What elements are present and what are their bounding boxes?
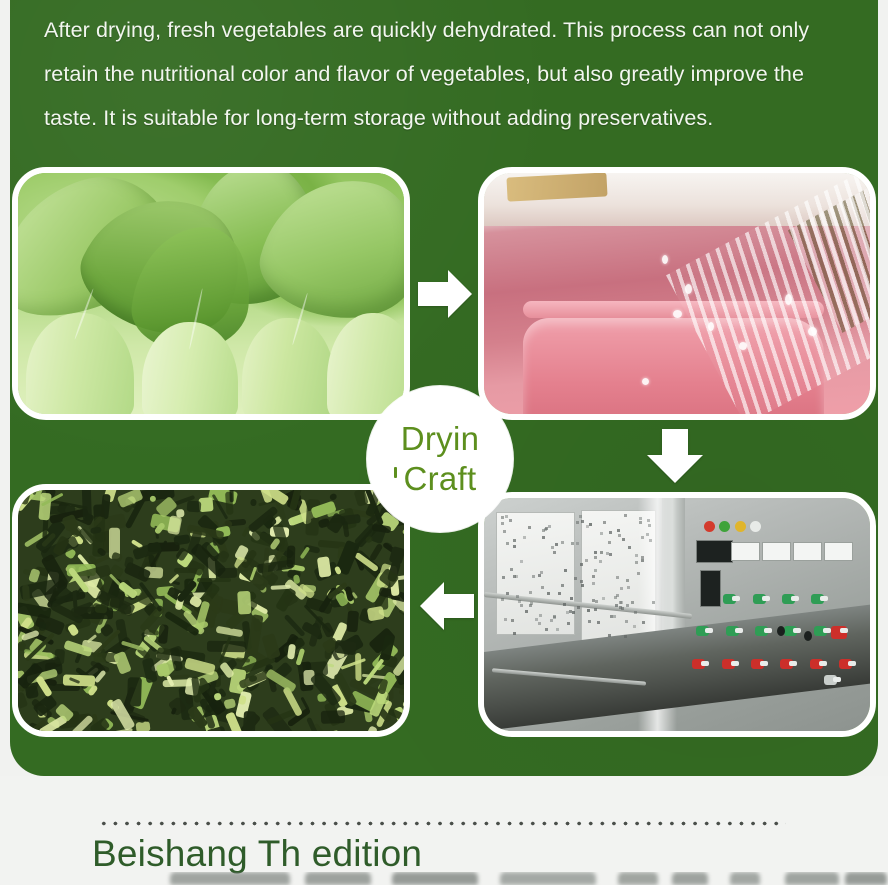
preview-blob (845, 872, 887, 885)
control-knob-green (726, 626, 739, 636)
vegetable-flake (158, 624, 168, 644)
chart-tick (641, 536, 644, 539)
chart-tick (595, 600, 598, 603)
chart-tick (515, 575, 518, 578)
control-knob-red (839, 659, 852, 669)
control-knob-red (751, 659, 764, 669)
vegetable-flake (365, 726, 378, 737)
indicator-lamp-red (704, 521, 715, 532)
chart-tick (592, 582, 595, 585)
control-knob-grey (824, 675, 837, 685)
vegetable-flake (251, 498, 257, 506)
chart-tick (538, 622, 541, 625)
chart-tick (571, 542, 574, 545)
preview-blob (305, 872, 371, 885)
vegetable-flake (403, 550, 410, 559)
chart-tick (635, 561, 638, 564)
drying-craft-badge: Dryin Craft (367, 386, 513, 532)
badge-line-2: Craft (403, 460, 476, 497)
control-knob-red (810, 659, 823, 669)
photo-drying-machine (478, 492, 876, 737)
chart-tick (600, 551, 603, 554)
chart-tick (580, 563, 583, 566)
chart-tick (608, 634, 611, 637)
chart-tick (600, 532, 603, 535)
chart-tick (621, 607, 624, 610)
chart-tick (633, 625, 636, 628)
chart-tick (574, 577, 577, 580)
chart-tick (603, 521, 606, 524)
chart-tick (620, 601, 623, 604)
arrow-down-icon (641, 425, 709, 487)
chart-tick (622, 538, 625, 541)
vegetable-flake (316, 557, 331, 579)
vegetable-flake (408, 576, 410, 605)
chart-tick (592, 575, 595, 578)
chart-tick (540, 571, 543, 574)
chart-tick (576, 542, 579, 545)
vegetable-flake (327, 730, 338, 736)
chart-tick (594, 556, 597, 559)
washing-image (484, 173, 870, 414)
chart-tick (501, 598, 504, 601)
brand-title: Beishang Th edition (92, 832, 422, 876)
chart-tick (511, 619, 514, 622)
chart-tick (639, 517, 642, 520)
chart-tick (506, 592, 509, 595)
vegetable-flake (197, 578, 232, 582)
badge-line-1: Dryin (401, 419, 480, 459)
badge-line-2-wrap: Craft (403, 459, 476, 499)
control-knob-green (782, 594, 795, 604)
chart-tick (548, 525, 551, 528)
chart-tick (642, 621, 645, 624)
chart-tick (513, 539, 516, 542)
vegetable-flake (173, 534, 190, 545)
chart-tick (529, 591, 532, 594)
chart-tick (513, 545, 516, 548)
vegetable-flake (246, 614, 263, 655)
preview-blob (170, 872, 290, 885)
chart-tick (541, 586, 544, 589)
vegetable-flake (335, 640, 357, 655)
chart-tick (587, 609, 590, 612)
preview-blob (618, 872, 658, 885)
chart-tick (555, 543, 558, 546)
chart-tick (585, 559, 588, 562)
chart-tick (637, 572, 640, 575)
chart-tick (617, 529, 620, 532)
fresh-vegetable-image (18, 173, 404, 414)
control-knob-green (814, 626, 827, 636)
control-knob-red (692, 659, 705, 669)
vegetable-flake (242, 711, 256, 737)
chart-tick (620, 587, 623, 590)
gauge (731, 542, 760, 560)
chart-tick (561, 541, 564, 544)
vegetable-flake (127, 677, 142, 706)
photo-dried-vegetables (12, 484, 410, 737)
chart-tick (558, 592, 561, 595)
vegetable-flake (367, 605, 385, 621)
footer-area: Beishang Th edition (0, 776, 888, 885)
chart-tick (516, 595, 519, 598)
vegetable-flake (287, 545, 295, 568)
chart-tick (647, 519, 650, 522)
chart-tick (525, 610, 528, 613)
chart-tick (505, 515, 508, 518)
vegetable-flake (184, 657, 216, 675)
vegetable-flake (199, 497, 214, 513)
control-knob-red (780, 659, 793, 669)
chart-tick (624, 514, 627, 517)
chart-tick (535, 618, 538, 621)
vegetable-flake (270, 584, 290, 589)
control-chart-left (496, 512, 575, 635)
chart-tick (581, 520, 584, 523)
chart-tick (576, 521, 579, 524)
chart-tick (618, 534, 621, 537)
chart-tick (602, 597, 605, 600)
chart-tick (631, 601, 634, 604)
vegetable-flake (95, 604, 108, 613)
chart-tick (609, 553, 612, 556)
water-drop (785, 294, 792, 305)
control-knob-green (811, 594, 824, 604)
vegetable-flake (21, 584, 29, 600)
control-knob-green (753, 594, 766, 604)
dried-vegetable-image (18, 490, 404, 731)
chart-tick (588, 620, 591, 623)
chart-tick (538, 574, 541, 577)
vegetable-flake (54, 649, 65, 665)
gauge (793, 542, 822, 560)
vegetable-flake (113, 651, 132, 675)
chart-tick (532, 575, 535, 578)
chart-tick (501, 522, 504, 525)
page-root: only be preserved for a short time. by f… (0, 0, 888, 885)
vegetable-flake (82, 484, 92, 520)
tick-mark-icon (394, 467, 397, 478)
vent-grille (700, 570, 721, 607)
chart-tick (589, 523, 592, 526)
arrow-left-icon (416, 575, 478, 637)
chart-tick (563, 603, 566, 606)
chart-tick (502, 576, 505, 579)
vegetable-flake (300, 696, 309, 710)
vegetable-flake (399, 689, 408, 695)
chart-tick (639, 521, 642, 524)
stalk-shape (242, 318, 335, 420)
chart-tick (547, 592, 550, 595)
drying-machine-image (484, 498, 870, 731)
vegetable-flake (109, 728, 133, 735)
vegetable-flake (346, 610, 359, 632)
chart-tick (523, 536, 526, 539)
vegetable-flake (156, 647, 171, 661)
vegetable-flake (329, 493, 338, 501)
control-knob-green (755, 626, 768, 636)
photo-fresh-vegetables (12, 167, 410, 420)
next-section-preview (0, 872, 888, 885)
chart-tick (556, 628, 559, 631)
photo-washing-process (478, 167, 876, 420)
chart-tick (627, 586, 630, 589)
preview-blob (785, 872, 839, 885)
dotted-divider (98, 820, 786, 827)
chart-tick (545, 628, 548, 631)
chart-tick (614, 596, 617, 599)
preview-blob (672, 872, 708, 885)
chart-tick (506, 542, 509, 545)
arrow-right-icon (414, 263, 476, 325)
chart-tick (513, 632, 516, 635)
chart-tick (561, 584, 564, 587)
chart-tick (518, 600, 521, 603)
control-knob-green (696, 626, 709, 636)
gauge (824, 542, 853, 560)
indicator-lamp-green (719, 521, 730, 532)
chart-tick (616, 576, 619, 579)
chart-tick (581, 584, 584, 587)
chart-tick (652, 601, 655, 604)
preview-blob (730, 872, 760, 885)
display-window (696, 540, 733, 563)
chart-tick (594, 569, 597, 572)
chart-tick (539, 614, 542, 617)
vegetable-flake (287, 644, 296, 660)
chart-tick (641, 559, 644, 562)
vegetable-flake (300, 546, 310, 558)
vegetable-flake (321, 711, 345, 724)
chart-tick (625, 620, 628, 623)
chart-tick (597, 621, 600, 624)
water-drop (662, 255, 668, 264)
chart-tick (551, 546, 554, 549)
gauge (762, 542, 791, 560)
chart-tick (615, 604, 618, 607)
vegetable-flake (187, 501, 202, 513)
water-drop (739, 342, 747, 350)
chart-tick (553, 616, 556, 619)
chart-tick (626, 579, 629, 582)
chart-tick (572, 611, 575, 614)
chart-tick (626, 604, 629, 607)
chart-tick (570, 597, 573, 600)
vegetable-flake (399, 609, 410, 628)
chart-tick (528, 526, 531, 529)
chart-tick (594, 551, 597, 554)
vegetable-flake (111, 551, 123, 562)
indicator-lamp-yellow (735, 521, 746, 532)
chart-tick (599, 560, 602, 563)
control-knob-green (723, 594, 736, 604)
chart-tick (648, 524, 651, 527)
chart-tick (635, 554, 638, 557)
chart-tick (501, 516, 504, 519)
indicator-lamp-white (750, 521, 761, 532)
vegetable-flake (168, 515, 183, 534)
water-drop (685, 284, 692, 294)
control-knob-red (722, 659, 735, 669)
preview-blob (392, 872, 478, 885)
chart-tick (628, 546, 631, 549)
vegetable-flake (355, 653, 362, 681)
chart-tick (649, 539, 652, 542)
chart-tick (577, 606, 580, 609)
chart-tick (579, 515, 582, 518)
chart-tick (564, 569, 567, 572)
vegetable-flake (235, 657, 250, 662)
chart-tick (542, 536, 545, 539)
vegetable-flake (404, 675, 410, 706)
preview-blob (500, 872, 596, 885)
chart-tick (567, 622, 570, 625)
chart-tick (509, 519, 512, 522)
chart-tick (530, 602, 533, 605)
chart-tick (550, 619, 553, 622)
chart-tick (510, 568, 513, 571)
chart-tick (580, 580, 583, 583)
chart-tick (610, 615, 613, 618)
chart-tick (624, 635, 627, 638)
chart-tick (613, 615, 616, 618)
chart-tick (503, 530, 506, 533)
stalk-shape (26, 313, 134, 420)
chart-tick (608, 541, 611, 544)
vegetable-flake (230, 486, 234, 502)
chart-tick (520, 560, 523, 563)
chart-tick (566, 611, 569, 614)
chart-tick (504, 618, 507, 621)
chart-tick (646, 533, 649, 536)
control-knob-green (784, 626, 797, 636)
vegetable-flake (238, 591, 252, 614)
chart-tick (634, 611, 637, 614)
control-knob-red (831, 626, 847, 639)
chart-tick (520, 604, 523, 607)
chart-tick (609, 531, 612, 534)
chart-tick (594, 608, 597, 611)
chart-tick (553, 551, 556, 554)
